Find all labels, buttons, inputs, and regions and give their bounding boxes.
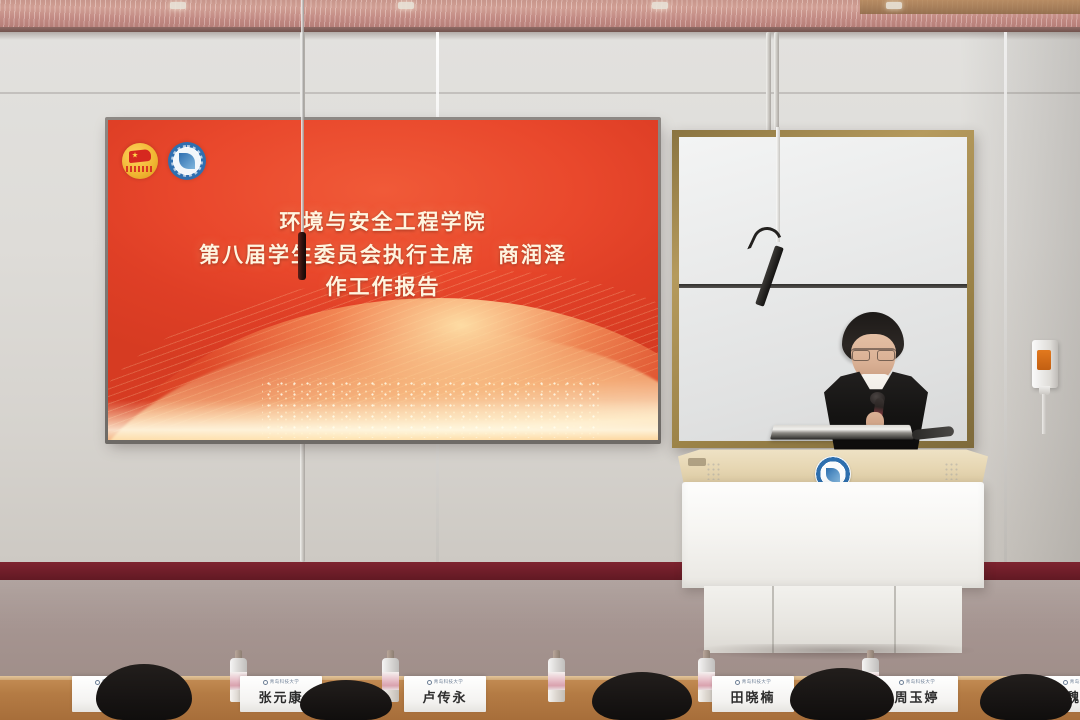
placard-organization: 青岛科技大学 [263,679,299,685]
slide-title-line-2: 第八届学生委员会执行主席 商润泽 [108,239,658,272]
ceiling-light-4 [886,2,902,9]
wall-seam [0,92,1080,94]
whiteboard-divider [679,284,967,288]
wall-mounted-dispenser[interactable] [1032,340,1058,388]
lectern-body [682,482,984,588]
lectern-base-seam-right [894,586,896,653]
emblem-center-mark [179,153,195,169]
lecture-hall-photo: 环境与安全工程学院 第八届学生委员会执行主席 商润泽 作工作报告 [0,0,1080,720]
university-seal-icon [427,680,432,685]
university-seal-icon [735,680,740,685]
whiteboard-pole [776,127,780,242]
placard-organization-label: 青岛科技大学 [1070,679,1080,685]
podium-laptop[interactable] [770,425,914,440]
lectern-base-seam-left [772,586,774,653]
emblem-band [126,166,154,172]
bottle-label [382,672,399,690]
university-seal-icon [263,680,268,685]
lectern-base [704,586,962,653]
ceiling-light-3 [652,2,668,9]
placard-name-label: 张元康 [258,687,303,706]
university-seal-icon [1063,680,1068,685]
slide-title-line-1: 环境与安全工程学院 [108,206,658,239]
flag-shape [129,149,151,163]
university-seal-icon [95,680,100,685]
placard-organization-label: 青岛科技大学 [742,679,771,685]
placard-organization-label: 青岛科技大学 [434,679,463,685]
emblem-center-mark [826,468,840,482]
screen-surface: 环境与安全工程学院 第八届学生委员会执行主席 商润泽 作工作报告 [108,120,658,440]
slide-title-block: 环境与安全工程学院 第八届学生委员会执行主席 商润泽 作工作报告 [108,206,658,304]
placard-name-label: 田晓楠 [730,687,775,706]
wall-conduit-2 [766,32,771,132]
lectern-floor-shadow [696,644,974,660]
lectern-speaker-grille-right [944,462,960,480]
dispenser-indicator-icon [1037,350,1051,370]
lectern-notch [688,458,706,466]
projection-screen[interactable]: 环境与安全工程学院 第八届学生委员会执行主席 商润泽 作工作报告 [108,120,658,440]
university-emblem-icon [168,142,206,180]
placard-organization-label: 青岛科技大学 [270,679,299,685]
dispenser-stem [1042,394,1046,434]
lectern-speaker-grille-left [706,462,722,480]
slide-title-line-3: 作工作报告 [108,271,658,304]
glasses-icon [851,348,896,357]
ceiling [0,0,1080,30]
screen-sparkle-field [262,378,603,438]
placard-organization: 青岛科技大学 [899,679,935,685]
ceiling-microphone-icon [298,232,306,280]
university-seal-icon [899,680,904,685]
ceiling-light-2 [398,2,414,9]
placard-organization-label: 青岛科技大学 [906,679,935,685]
placard-organization: 青岛科技大学 [427,679,463,685]
placard-name-label: 卢传永 [422,687,467,706]
ceiling-microphone-cable [301,0,304,240]
wall-top-shadow [0,32,1080,40]
communist-youth-league-emblem-icon [122,143,158,179]
placard-organization: 青岛科技大学 [735,679,771,685]
placard-organization: 青岛科技大学 [1063,679,1080,685]
slide-logo-row [122,142,206,180]
water-bottle-3[interactable] [548,650,565,702]
name-placard: 青岛科技大学卢传永 [404,676,486,712]
lectern[interactable] [672,448,994,653]
placard-name-label: 周玉婷 [894,687,939,706]
bottle-label [548,672,565,690]
ceiling-light-1 [170,2,186,9]
name-placard: 青岛科技大学田晓楠 [712,676,794,712]
wall-conduit-3 [774,32,779,132]
